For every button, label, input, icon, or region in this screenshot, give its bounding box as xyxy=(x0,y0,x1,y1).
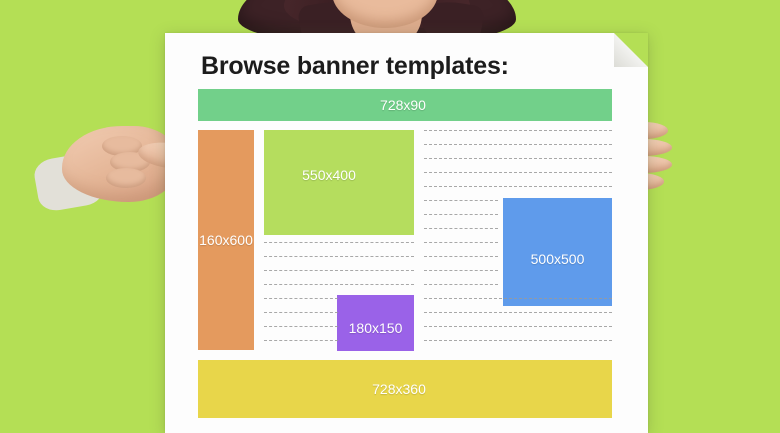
filler-line xyxy=(424,340,612,341)
person-chin xyxy=(332,0,438,28)
filler-line xyxy=(424,256,498,257)
filler-line xyxy=(424,298,612,299)
hand-palm xyxy=(62,126,180,202)
poster-sheet: Browse banner templates: xyxy=(165,33,648,433)
filler-line xyxy=(424,200,498,201)
filler-line xyxy=(264,298,338,299)
finger-knuckle xyxy=(106,168,146,188)
banner-template-160x600[interactable]: 160x600 xyxy=(198,130,254,350)
filler-line xyxy=(264,326,338,327)
filler-line xyxy=(264,270,414,271)
filler-line xyxy=(264,340,338,341)
filler-line xyxy=(264,242,414,243)
banner-label: 728x90 xyxy=(380,97,426,113)
banner-label: 160x600 xyxy=(199,232,253,248)
filler-line xyxy=(424,214,498,215)
filler-line xyxy=(424,130,612,131)
filler-line xyxy=(424,326,612,327)
filler-line xyxy=(424,228,498,229)
banner-template-728x90[interactable]: 728x90 xyxy=(198,89,612,121)
poster-content: Browse banner templates: xyxy=(165,33,648,433)
filler-line xyxy=(424,158,612,159)
filler-line xyxy=(424,284,498,285)
filler-line xyxy=(424,312,612,313)
banner-template-728x360[interactable]: 728x360 xyxy=(198,360,612,418)
filler-text-left-column xyxy=(264,242,414,354)
filler-line xyxy=(424,144,612,145)
filler-line xyxy=(424,242,498,243)
filler-line xyxy=(424,186,612,187)
finger-knuckle xyxy=(102,136,142,156)
page-title: Browse banner templates: xyxy=(201,52,509,81)
filler-line xyxy=(424,172,612,173)
banner-template-550x400[interactable]: 550x400 xyxy=(264,130,414,235)
banner-label: 728x360 xyxy=(372,381,426,397)
sleeve-cuff xyxy=(32,151,106,214)
filler-line xyxy=(264,284,414,285)
finger-knuckle xyxy=(110,152,150,172)
banner-label: 550x400 xyxy=(302,167,356,183)
filler-text-right-column xyxy=(424,130,612,354)
filler-line xyxy=(264,256,414,257)
filler-line xyxy=(424,270,498,271)
screenshot-stage: Browse banner templates: xyxy=(0,0,780,433)
filler-line xyxy=(264,312,338,313)
